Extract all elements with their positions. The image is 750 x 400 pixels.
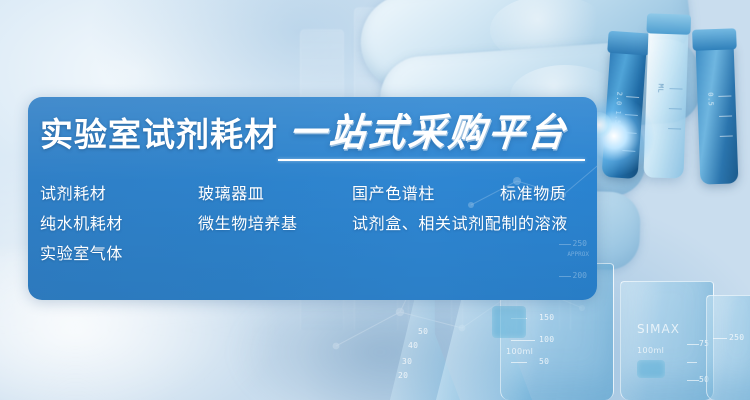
- beaker-graduation-50: 50: [539, 357, 549, 366]
- panel-title-row: 实验室试剂耗材 一站式采购平台: [40, 115, 565, 151]
- page-title-calligraphy: 一站式采购平台: [287, 114, 569, 152]
- category-reagent-kits-solutions[interactable]: 试剂盒、相关试剂配制的溶液: [352, 210, 568, 240]
- beaker-edge-graduation: 250: [729, 333, 744, 342]
- flask-volume-mark: 100ml: [506, 347, 533, 356]
- cryovial-right: 0.5: [696, 43, 739, 184]
- flask-graduation-50: 50: [418, 327, 428, 336]
- category-microbial-culture-media[interactable]: 微生物培养基: [198, 210, 298, 240]
- page-title: 实验室试剂耗材: [40, 118, 278, 151]
- category-reagent-consumables[interactable]: 试剂耗材: [40, 180, 106, 210]
- flask-graduation-40: 40: [408, 341, 418, 350]
- cryovial-middle: ML: [643, 27, 688, 178]
- beaker-edge: 250: [706, 295, 750, 400]
- beaker-volume-mark: 100ml: [637, 346, 664, 355]
- beaker-brand-mark: SIMAX: [637, 322, 680, 336]
- category-laboratory-gases[interactable]: 实验室气体: [40, 240, 123, 270]
- category-row-2: 纯水机耗材 微生物培养基 试剂盒、相关试剂配制的溶液: [40, 210, 596, 240]
- promo-panel: 250 APPROX 200 实验室试剂耗材 一站式采购平台 试剂耗材 玻璃器皿…: [28, 97, 597, 300]
- flask-graduation-20: 20: [398, 371, 408, 380]
- panel-graduation-200: 200: [573, 271, 587, 280]
- beaker-graduation-100: 100: [539, 335, 554, 344]
- beaker-graduation-150: 150: [539, 313, 554, 322]
- beaker-medium: SIMAX 100ml 75 50: [620, 281, 714, 400]
- category-water-purifier-consumables[interactable]: 纯水机耗材: [40, 210, 123, 240]
- title-underline: [278, 159, 585, 161]
- category-reference-materials[interactable]: 标准物质: [500, 180, 566, 210]
- category-list: 试剂耗材 玻璃器皿 国产色谱柱 标准物质 纯水机耗材 微生物培养基 试剂盒、相关…: [40, 180, 596, 270]
- banner-image: 2.0 1.5 1.0 ML 0.5 250 APPROX 200 150 10: [0, 0, 750, 400]
- category-domestic-chromatography-column[interactable]: 国产色谱柱: [352, 180, 435, 210]
- flask-graduation-30: 30: [402, 357, 412, 366]
- category-row-1: 试剂耗材 玻璃器皿 国产色谱柱 标准物质: [40, 180, 596, 210]
- category-glassware[interactable]: 玻璃器皿: [198, 180, 264, 210]
- category-row-3: 实验室气体: [40, 240, 596, 270]
